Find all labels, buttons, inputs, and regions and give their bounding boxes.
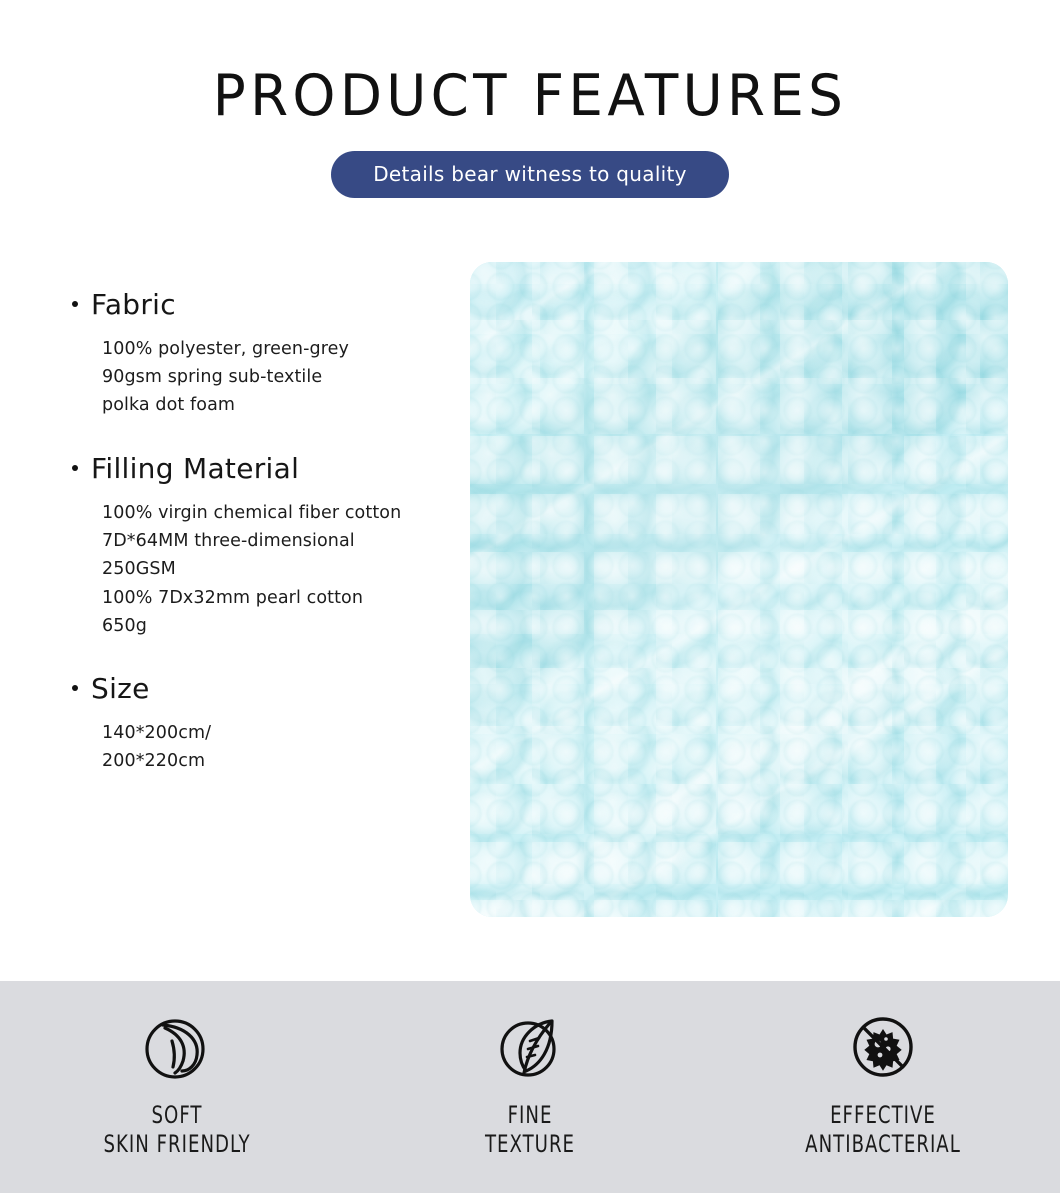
feature-effective-antibacterial: EFFECTIVE ANTIBACTERIAL bbox=[723, 1009, 1043, 1160]
spec-line: 100% polyester, green-grey bbox=[102, 335, 462, 363]
spec-heading: Filling Material bbox=[72, 454, 462, 485]
spec-details-size: 140*200cm/ 200*220cm bbox=[102, 719, 462, 776]
spec-title-filling-material: Filling Material bbox=[91, 454, 299, 485]
spec-block-size: Size 140*200cm/ 200*220cm bbox=[72, 674, 462, 775]
spec-block-fabric: Fabric 100% polyester, green-grey 90gsm … bbox=[72, 290, 462, 420]
feature-line1: FINE bbox=[508, 1101, 553, 1129]
spec-details-filling-material: 100% virgin chemical fiber cotton 7D*64M… bbox=[102, 499, 462, 641]
spec-line: 7D*64MM three-dimensional bbox=[102, 527, 462, 555]
spec-heading: Size bbox=[72, 674, 462, 705]
feature-footer: SOFT SKIN FRIENDLY FINE TEXTURE bbox=[0, 981, 1060, 1193]
spec-line: 100% virgin chemical fiber cotton bbox=[102, 499, 462, 527]
feature-fine-texture: FINE TEXTURE bbox=[370, 1009, 690, 1160]
no-bacteria-icon bbox=[723, 1009, 1043, 1085]
feature-line1: EFFECTIVE bbox=[830, 1101, 936, 1129]
feature-label-soft: SOFT SKIN FRIENDLY bbox=[42, 1101, 311, 1160]
spec-line: 250GSM bbox=[102, 555, 462, 583]
feature-soft-skin-friendly: SOFT SKIN FRIENDLY bbox=[17, 1009, 337, 1160]
tagline-badge: Details bear witness to quality bbox=[331, 151, 729, 198]
leaf-circle-icon bbox=[370, 1009, 690, 1085]
bullet-icon bbox=[72, 685, 78, 691]
spec-list: Fabric 100% polyester, green-grey 90gsm … bbox=[72, 290, 462, 776]
spec-details-fabric: 100% polyester, green-grey 90gsm spring … bbox=[102, 335, 462, 420]
page-title: PRODUCT FEATURES bbox=[21, 0, 1039, 125]
spec-title-size: Size bbox=[91, 674, 150, 705]
feature-line2: SKIN FRIENDLY bbox=[42, 1130, 311, 1159]
spec-line: 200*220cm bbox=[102, 747, 462, 775]
spec-line: 650g bbox=[102, 612, 462, 640]
spec-line: 140*200cm/ bbox=[102, 719, 462, 747]
photo-highlight bbox=[470, 262, 1008, 917]
feather-circle-icon bbox=[17, 1009, 337, 1085]
bullet-icon bbox=[72, 465, 78, 471]
product-photo bbox=[470, 262, 1008, 917]
bullet-icon bbox=[72, 301, 78, 307]
spec-title-fabric: Fabric bbox=[91, 290, 176, 321]
badge-container: Details bear witness to quality bbox=[0, 151, 1060, 198]
feature-line2: TEXTURE bbox=[396, 1130, 665, 1159]
feature-label-fine: FINE TEXTURE bbox=[396, 1101, 665, 1160]
spec-line: 90gsm spring sub-textile bbox=[102, 363, 462, 391]
spec-line: polka dot foam bbox=[102, 391, 462, 419]
spec-heading: Fabric bbox=[72, 290, 462, 321]
feature-line2: ANTIBACTERIAL bbox=[749, 1130, 1018, 1159]
feature-line1: SOFT bbox=[151, 1101, 202, 1129]
feature-label-antibacterial: EFFECTIVE ANTIBACTERIAL bbox=[749, 1101, 1018, 1160]
spec-line: 100% 7Dx32mm pearl cotton bbox=[102, 584, 462, 612]
main-content: Fabric 100% polyester, green-grey 90gsm … bbox=[0, 262, 1060, 942]
spec-block-filling-material: Filling Material 100% virgin chemical fi… bbox=[72, 454, 462, 641]
